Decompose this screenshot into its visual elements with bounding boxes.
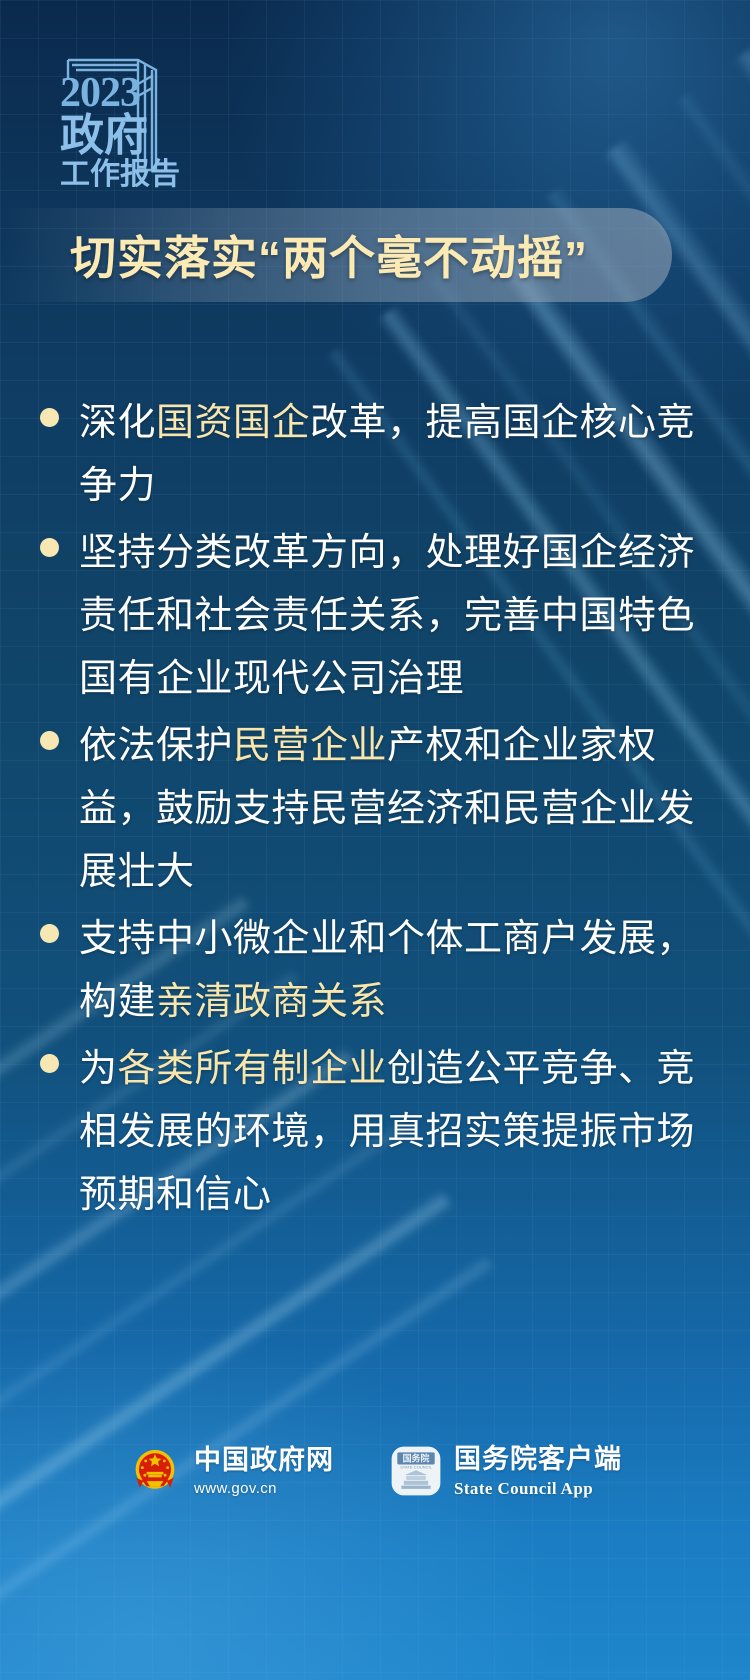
list-item-text: 为各类所有制企业创造公平竞争、竞相发展的环境，用真招实策提振市场预期和信心 (79, 1038, 718, 1227)
footer-brands: 中国政府网 www.gov.cn 国务院 STATE COUNCIL 国务院客户… (0, 1444, 750, 1498)
list-item: 坚持分类改革方向，处理好国企经济责任和社会责任关系，完善中国特色国有企业现代公司… (28, 522, 718, 711)
bullet-dot-icon (40, 408, 59, 427)
brand-gov-cn-sub: www.gov.cn (194, 1481, 334, 1496)
bullet-dot-icon (40, 731, 59, 750)
list-item-text: 坚持分类改革方向，处理好国企经济责任和社会责任关系，完善中国特色国有企业现代公司… (79, 522, 718, 711)
bottom-glow (0, 1320, 560, 1680)
list-item: 为各类所有制企业创造公平竞争、竞相发展的环境，用真招实策提振市场预期和信心 (28, 1038, 718, 1227)
bullet-dot-icon (40, 1054, 59, 1073)
list-item-text: 支持中小微企业和个体工商户发展，构建亲清政商关系 (79, 908, 718, 1034)
bullet-list: 深化国资国企改革，提高国企核心竞争力坚持分类改革方向，处理好国企经济责任和社会责… (28, 392, 718, 1231)
plain-phrase: 坚持分类改革方向，处理好国企经济责任和社会责任关系，完善中国特色国有企业现代公司… (79, 532, 695, 700)
highlighted-phrase: 国资国企 (156, 402, 310, 444)
svg-text:国务院: 国务院 (403, 1452, 430, 1463)
bullet-dot-icon (40, 924, 59, 943)
list-item-text: 依法保护民营企业产权和企业家权益，鼓励支持民营经济和民营企业发展壮大 (79, 715, 718, 904)
logo-line2: 工作报告 (60, 158, 180, 188)
brand-state-council-app-sub: State Council App (454, 1480, 622, 1497)
brand-gov-cn[interactable]: 中国政府网 www.gov.cn (128, 1444, 334, 1498)
brand-state-council-app-name: 国务院客户端 (454, 1446, 622, 1473)
list-item: 支持中小微企业和个体工商户发展，构建亲清政商关系 (28, 908, 718, 1034)
bullet-dot-icon (40, 538, 59, 557)
plain-phrase: 深化 (79, 402, 156, 444)
book-icon: 2023 政府 工作报告 (42, 38, 192, 188)
logo-line1: 政府 (60, 111, 148, 160)
page-title: 切实落实“两个毫不动摇” (70, 216, 670, 294)
brand-state-council-app-text: 国务院客户端 State Council App (454, 1446, 622, 1497)
highlighted-phrase: 各类所有制企业 (118, 1048, 388, 1090)
highlighted-phrase: 亲清政商关系 (156, 981, 387, 1023)
brand-gov-cn-text: 中国政府网 www.gov.cn (194, 1447, 334, 1496)
list-item-text: 深化国资国企改革，提高国企核心竞争力 (79, 392, 718, 518)
state-council-app-icon: 国务院 STATE COUNCIL (390, 1445, 442, 1497)
plain-phrase: 依法保护 (79, 725, 233, 767)
brand-gov-cn-name: 中国政府网 (194, 1447, 334, 1474)
plain-phrase: 为 (79, 1048, 118, 1090)
logo-year: 2023 (60, 70, 140, 116)
poster-canvas: 2023 政府 工作报告 切实落实“两个毫不动摇” 深化国资国企改革，提高国企核… (0, 0, 750, 1680)
brand-state-council-app[interactable]: 国务院 STATE COUNCIL 国务院客户端 State Council A… (390, 1445, 622, 1497)
report-logo: 2023 政府 工作报告 (42, 38, 192, 188)
highlighted-phrase: 民营企业 (233, 725, 387, 767)
svg-text:STATE COUNCIL: STATE COUNCIL (400, 1465, 433, 1470)
list-item: 深化国资国企改革，提高国企核心竞争力 (28, 392, 718, 518)
national-emblem-icon (128, 1444, 182, 1498)
list-item: 依法保护民营企业产权和企业家权益，鼓励支持民营经济和民营企业发展壮大 (28, 715, 718, 904)
